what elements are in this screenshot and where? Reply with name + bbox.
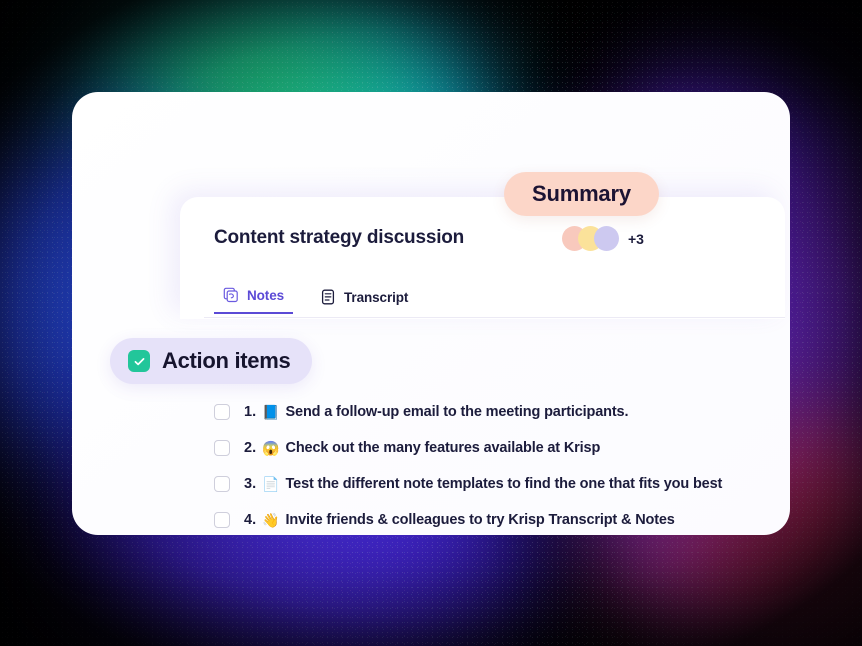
item-checkbox[interactable] bbox=[214, 404, 230, 420]
item-checkbox[interactable] bbox=[214, 512, 230, 528]
tab-notes-label: Notes bbox=[247, 288, 284, 303]
item-text: Test the different note templates to fin… bbox=[286, 476, 723, 492]
notes-stack-icon bbox=[223, 287, 239, 303]
item-text: Send a follow-up email to the meeting pa… bbox=[286, 404, 629, 420]
item-checkbox[interactable] bbox=[214, 440, 230, 456]
action-items-badge[interactable]: Action items bbox=[110, 338, 312, 384]
action-items-label: Action items bbox=[162, 348, 290, 374]
participant-overflow-count: +3 bbox=[628, 231, 644, 247]
page-facing-up-emoji: 📄 bbox=[262, 477, 279, 491]
waving-hand-emoji: 👋 bbox=[262, 513, 279, 527]
item-number: 4. bbox=[244, 512, 256, 528]
item-number: 3. bbox=[244, 476, 256, 492]
list-item[interactable]: 3. 📄 Test the different note templates t… bbox=[214, 466, 794, 502]
tab-transcript-label: Transcript bbox=[344, 290, 408, 305]
summary-badge[interactable]: Summary bbox=[504, 172, 659, 216]
avatar-lavender bbox=[594, 226, 619, 251]
content-tabs: Notes Transcript bbox=[214, 283, 417, 314]
blue-book-emoji: 📘 bbox=[262, 405, 279, 419]
list-item[interactable]: 2. 😱 Check out the many features availab… bbox=[214, 430, 794, 466]
item-number: 1. bbox=[244, 404, 256, 420]
item-text: Invite friends & colleagues to try Krisp… bbox=[286, 512, 675, 528]
app-canvas: Summary Content strategy discussion +3 N… bbox=[0, 0, 862, 646]
item-checkbox[interactable] bbox=[214, 476, 230, 492]
page-title: Content strategy discussion bbox=[214, 227, 464, 249]
tabs-divider bbox=[204, 317, 785, 318]
transcript-document-icon bbox=[320, 289, 336, 305]
action-items-list: 1. 📘 Send a follow-up email to the meeti… bbox=[214, 394, 794, 538]
list-item[interactable]: 4. 👋 Invite friends & colleagues to try … bbox=[214, 502, 794, 538]
list-item[interactable]: 1. 📘 Send a follow-up email to the meeti… bbox=[214, 394, 794, 430]
screaming-face-emoji: 😱 bbox=[262, 441, 279, 455]
participant-avatar-group[interactable]: +3 bbox=[562, 226, 644, 251]
tab-notes[interactable]: Notes bbox=[214, 283, 293, 314]
tab-transcript[interactable]: Transcript bbox=[311, 285, 417, 314]
checkbox-checked-icon bbox=[128, 350, 150, 372]
item-number: 2. bbox=[244, 440, 256, 456]
item-text: Check out the many features available at… bbox=[286, 440, 601, 456]
